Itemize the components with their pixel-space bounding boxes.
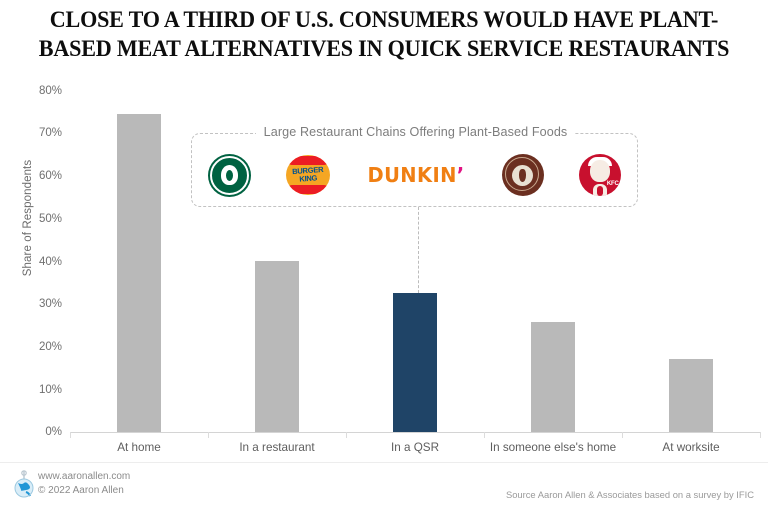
globe-icon [12, 470, 36, 498]
burger-king-logo: BURGERKING [286, 155, 330, 195]
x-label-at-worksite: At worksite [622, 440, 760, 456]
y-tick-70: 70% [16, 127, 62, 139]
y-tick-10: 10% [16, 384, 62, 396]
bar-in-someone-elses-home[interactable] [531, 322, 575, 432]
x-tickmark-4 [622, 432, 623, 438]
y-tick-40: 40% [16, 256, 62, 268]
callout-title-text: Large Restaurant Chains Offering Plant-B… [256, 125, 576, 139]
bar-in-a-restaurant[interactable] [255, 261, 299, 432]
x-label-in-a-restaurant: In a restaurant [208, 440, 346, 456]
y-tick-20: 20% [16, 341, 62, 353]
x-tickmark-3 [484, 432, 485, 438]
source-note: Source Aaron Allen & Associates based on… [506, 489, 754, 500]
bar-at-worksite[interactable] [669, 359, 713, 432]
brand-logo-row: BURGERKING DUNKIN’ KFC [191, 148, 638, 202]
y-tick-50: 50% [16, 213, 62, 225]
callout-title: Large Restaurant Chains Offering Plant-B… [192, 125, 639, 139]
x-label-at-home: At home [70, 440, 208, 456]
bar-chart: Share of Respondents 80% 70% 60% 50% 40%… [0, 0, 768, 509]
bar-in-a-qsr[interactable] [393, 293, 437, 432]
y-tick-60: 60% [16, 170, 62, 182]
footer-url[interactable]: www.aaronallen.com [38, 470, 130, 484]
x-tickmark-2 [346, 432, 347, 438]
y-tick-0: 0% [16, 426, 62, 438]
x-tickmark-5 [760, 432, 761, 438]
x-axis-line [70, 432, 760, 433]
bar-at-home[interactable] [117, 114, 161, 432]
x-label-in-someone-elses-home: In someone else's home [484, 440, 622, 456]
callout-leader-line [418, 207, 419, 293]
starbucks-logo [208, 154, 251, 197]
y-tick-80: 80% [16, 85, 62, 97]
footer-credit: www.aaronallen.com © 2022 Aaron Allen [38, 470, 130, 497]
kfc-logo: KFC [579, 154, 621, 196]
dunkin-logo: DUNKIN’ [365, 163, 467, 187]
chipotle-logo [502, 154, 544, 196]
x-tickmark-1 [208, 432, 209, 438]
x-tickmark-0 [70, 432, 71, 438]
footer-copyright: © 2022 Aaron Allen [38, 484, 130, 498]
y-tick-30: 30% [16, 298, 62, 310]
footer-divider [0, 462, 768, 463]
x-label-in-a-qsr: In a QSR [346, 440, 484, 456]
